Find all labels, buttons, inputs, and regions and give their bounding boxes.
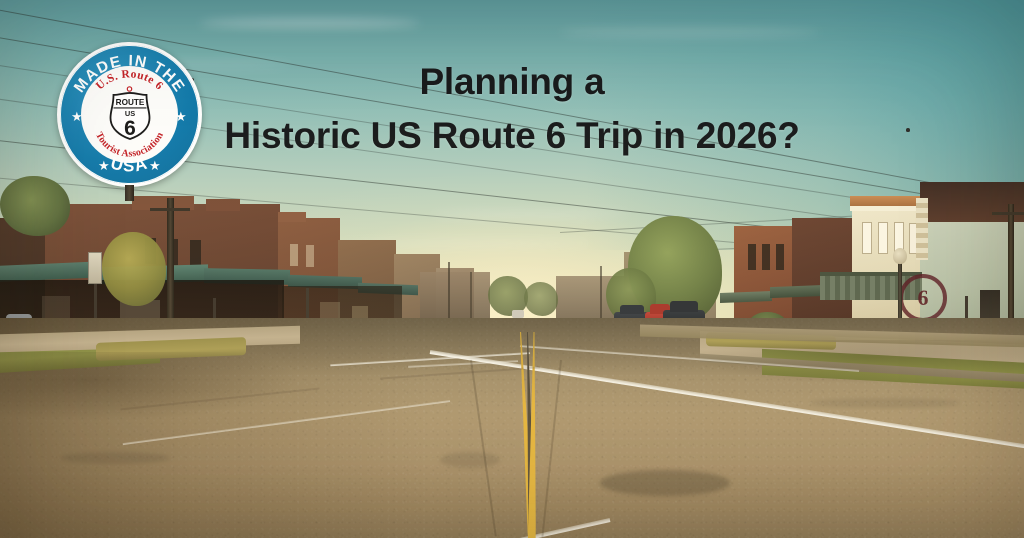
asphalt-patch: [600, 470, 730, 496]
us-route-6-tourist-association-badge: MADE IN THE USA U.S. Route 6 Tourist Ass…: [57, 42, 202, 187]
storefront-awning: [770, 285, 826, 298]
mural-number: 6: [918, 285, 929, 311]
left-building-parapet: [278, 212, 306, 222]
awning-fascia: [820, 272, 922, 276]
distant-car-center: [512, 310, 524, 318]
route6-banner-image: 6: [0, 0, 1024, 538]
tree-shadow-on-road: [0, 352, 300, 422]
distant-tree-center: [524, 282, 558, 316]
cloud-wisp: [200, 18, 420, 28]
pothole-repair: [60, 452, 170, 464]
utility-pole-left-crossarm: [150, 208, 190, 211]
distant-utility-pole: [470, 272, 472, 320]
lamp-globe: [893, 248, 907, 264]
route-6-shield-icon: ROUTE US 6: [107, 91, 152, 139]
svg-text:6: 6: [124, 116, 136, 139]
asphalt-patch-right: [810, 398, 960, 408]
italianate-window: [862, 222, 872, 254]
asphalt-patch: [440, 452, 500, 468]
storefront-awning: [720, 291, 772, 303]
upper-window: [762, 244, 770, 270]
upper-window: [748, 244, 756, 270]
tree-shadow-on-road-right: [700, 340, 1024, 384]
parked-suv-right-far-cabin: [620, 305, 644, 314]
parking-sign: [88, 252, 102, 284]
utility-pole-right-crossarm: [992, 212, 1024, 215]
upper-window: [290, 244, 298, 266]
distant-utility-pole: [448, 262, 450, 320]
left-building-parapet: [206, 199, 240, 211]
distant-buildings-left: [420, 272, 490, 322]
street-tree-left: [102, 232, 166, 306]
badge-star: ★: [175, 110, 187, 123]
badge-star: ★: [71, 110, 83, 123]
badge-star: ★: [98, 159, 110, 172]
svg-text:ROUTE: ROUTE: [115, 97, 144, 106]
cloud-wisp: [560, 28, 820, 37]
distant-utility-pole: [600, 266, 602, 322]
badge-star: ★: [149, 159, 161, 172]
upper-window: [306, 245, 314, 267]
brick-dentil-trim: [916, 198, 928, 260]
upper-window: [776, 244, 784, 270]
route-6-wall-mural: 6: [899, 274, 947, 322]
cornice-band: [850, 206, 924, 211]
badge-sign-post: [125, 185, 134, 201]
upper-window: [190, 240, 201, 265]
parked-suv-right-near-cabin: [670, 301, 698, 312]
italianate-window: [878, 222, 888, 254]
cornice-decor: [850, 196, 924, 206]
